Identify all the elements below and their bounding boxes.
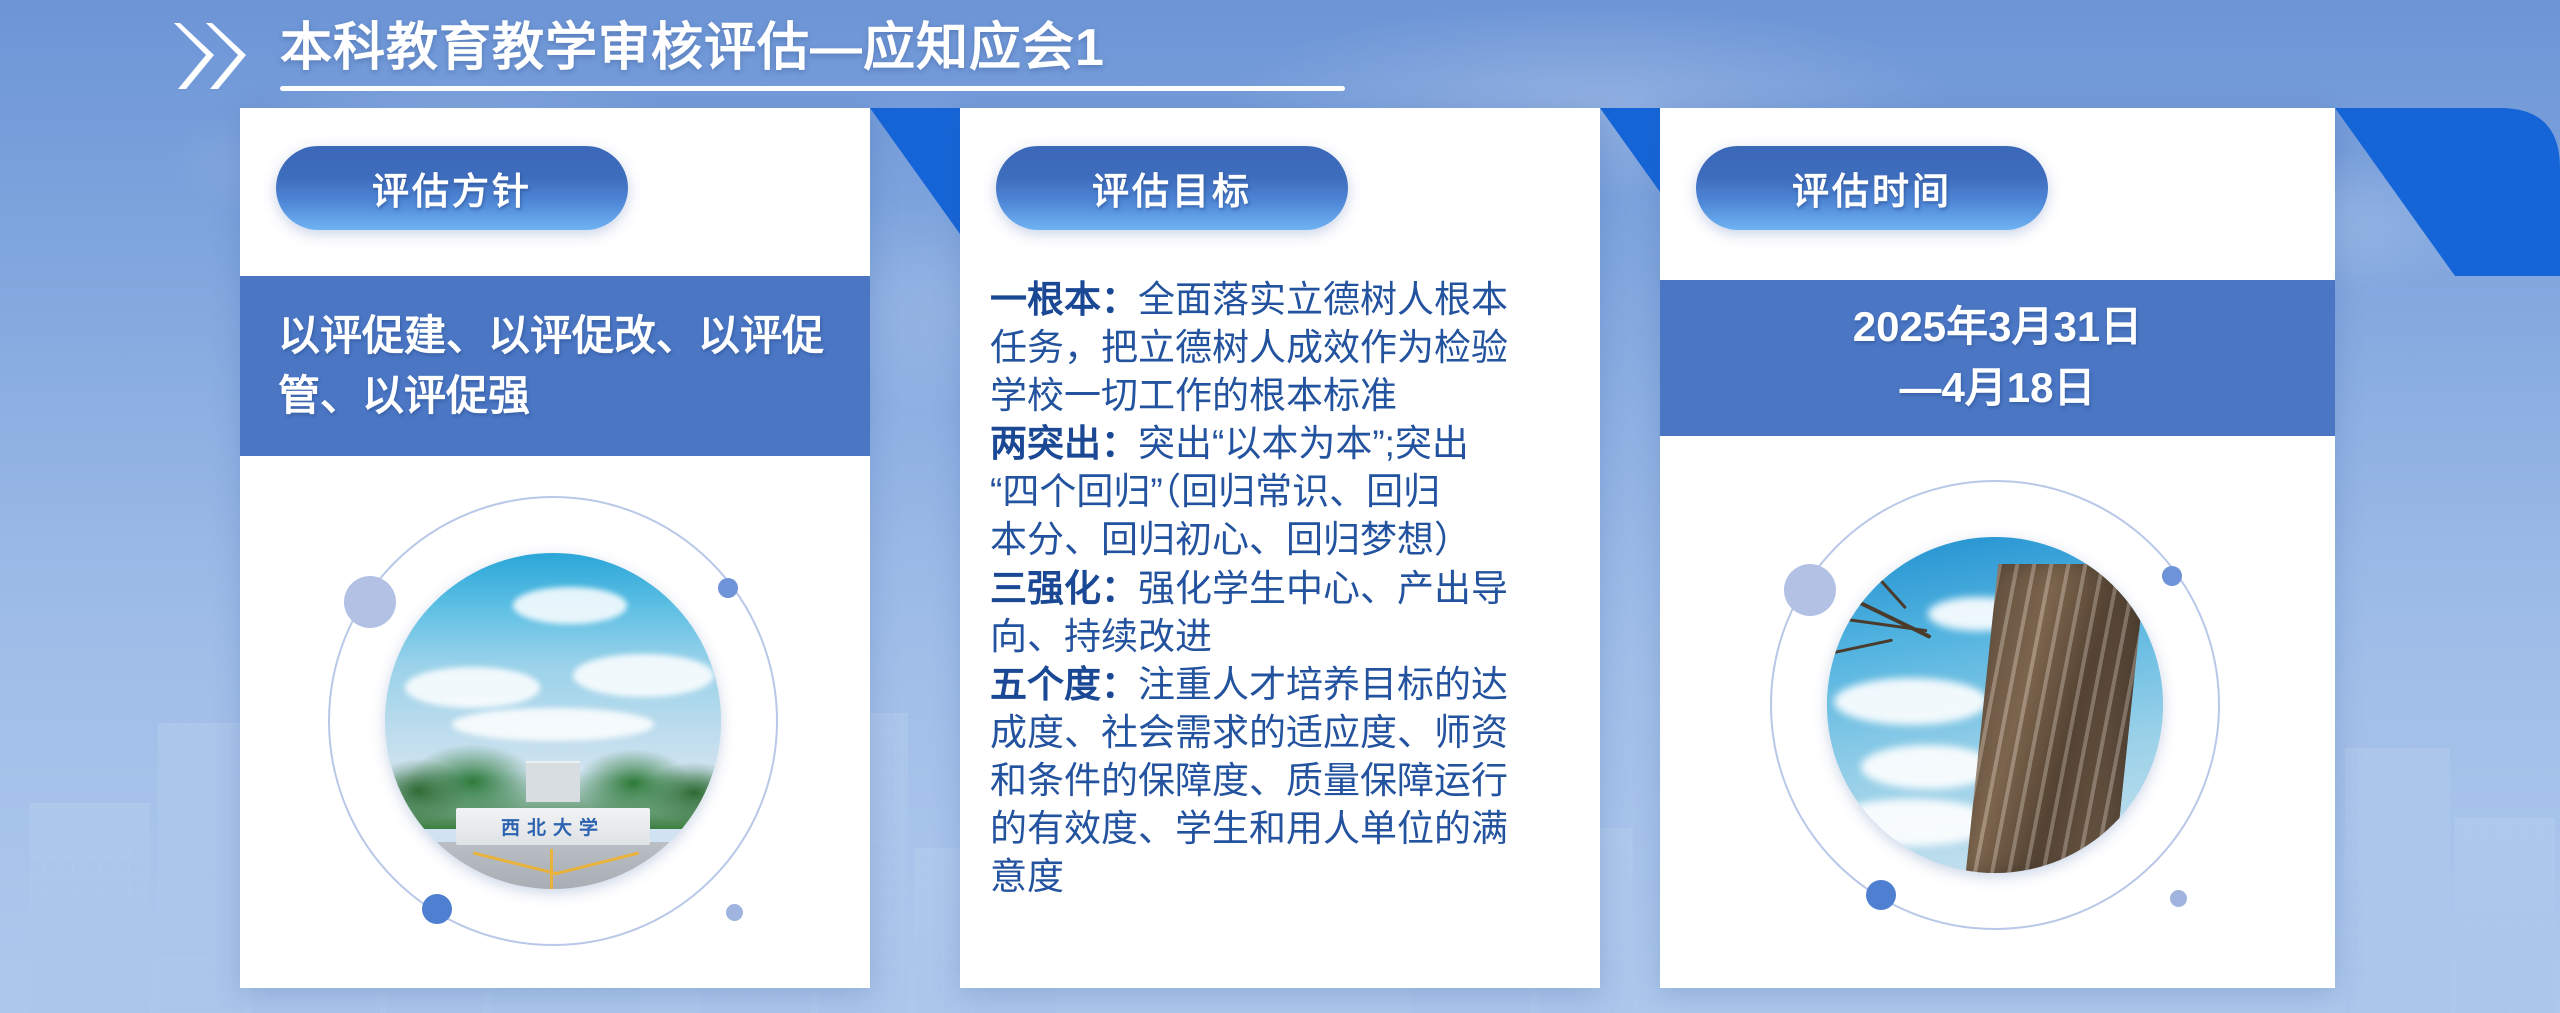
card-2-line-4: “四个回归”（回归常识、回归 xyxy=(990,468,1575,516)
card-2-line-5-text: 本分、回归初心、回归梦想） xyxy=(990,519,1471,560)
card-2-line-9-text: 成度、社会需求的适应度、师资 xyxy=(990,712,1508,753)
card-2-line-0-label: 一根本： xyxy=(990,279,1138,320)
card-3-date-text: 2025年3月31日 —4月18日 xyxy=(1853,297,2143,419)
campus-building-photo xyxy=(1827,537,2163,873)
cards-row: 评估方针 以评促建、以评促改、以评促管、以评促强 xyxy=(0,108,2560,1013)
card-2-line-7: 向、持续改进 xyxy=(990,613,1575,661)
card-3-badge-label: 评估时间 xyxy=(1792,161,1952,215)
card-2-line-6: 三强化：强化学生中心、产出导 xyxy=(990,565,1575,613)
page-title: 本科教育教学审核评估—应知应会1 xyxy=(280,21,1105,76)
card-2-line-8: 五个度：注重人才培养目标的达 xyxy=(990,661,1575,709)
page-header: 本科教育教学审核评估—应知应会1 xyxy=(170,8,1370,104)
card-2-line-3-label: 两突出： xyxy=(990,423,1138,464)
card-evaluation-policy[interactable]: 评估方针 以评促建、以评促改、以评促管、以评促强 xyxy=(240,108,870,988)
card-2-badge-label: 评估目标 xyxy=(1092,161,1252,215)
card-2-line-6-text: 强化学生中心、产出导 xyxy=(1138,568,1508,609)
card-2-line-12-text: 意度 xyxy=(990,856,1064,897)
card-3-date-line-2: —4月18日 xyxy=(1899,364,2095,411)
card-2-body-text: 一根本：全面落实立德树人根本任务，把立德树人成效作为检验学校一切工作的根本标准两… xyxy=(990,276,1575,901)
card-2-line-8-text: 注重人才培养目标的达 xyxy=(1138,664,1508,705)
card-1-statement-box: 以评促建、以评促改、以评促管、以评促强 xyxy=(240,276,870,456)
card-2-line-2: 学校一切工作的根本标准 xyxy=(990,372,1575,420)
orbit-dot-tiny xyxy=(2170,890,2187,907)
card-2-line-9: 成度、社会需求的适应度、师资 xyxy=(990,709,1575,757)
card-3-photo-decoration xyxy=(1770,480,2220,930)
card-3-date-line-1: 2025年3月31日 xyxy=(1853,303,2143,350)
card-2-line-3-text: 突出“以本为本”;突出 xyxy=(1138,423,1469,464)
card-2-line-10-text: 和条件的保障度、质量保障运行 xyxy=(990,760,1508,801)
card-2-line-6-label: 三强化： xyxy=(990,568,1138,609)
double-chevron-right-icon xyxy=(170,21,254,91)
card-2-badge: 评估目标 xyxy=(996,146,1348,230)
card-2-line-10: 和条件的保障度、质量保障运行 xyxy=(990,757,1575,805)
orbit-dot-medium xyxy=(1866,880,1896,910)
card-evaluation-goals[interactable]: 评估目标 一根本：全面落实立德树人根本任务，把立德树人成效作为检验学校一切工作的… xyxy=(960,108,1600,988)
card-2-line-3: 两突出：突出“以本为本”;突出 xyxy=(990,420,1575,468)
card-2-line-1: 任务，把立德树人成效作为检验 xyxy=(990,324,1575,372)
title-underline xyxy=(280,86,1345,91)
orbit-dot-small xyxy=(2162,566,2182,586)
orbit-dot-tiny xyxy=(726,904,743,921)
campus-gate-photo: 西北大学 xyxy=(385,553,721,889)
card-2-line-12: 意度 xyxy=(990,853,1575,901)
card-2-line-11-text: 的有效度、学生和用人单位的满 xyxy=(990,808,1508,849)
card-3-badge: 评估时间 xyxy=(1696,146,2048,230)
orbit-dot-medium xyxy=(422,894,452,924)
card-2-line-0-text: 全面落实立德树人根本 xyxy=(1138,279,1508,320)
card-1-badge-label: 评估方针 xyxy=(372,161,532,215)
card-1-photo-decoration: 西北大学 xyxy=(328,496,778,946)
card-2-line-0: 一根本：全面落实立德树人根本 xyxy=(990,276,1575,324)
orbit-dot-small xyxy=(718,578,738,598)
card-2-line-7-text: 向、持续改进 xyxy=(990,616,1212,657)
ribbon-flag-3 xyxy=(2335,108,2560,276)
gate-sign-text: 西北大学 xyxy=(456,808,651,845)
card-1-statement-text: 以评促建、以评促改、以评促管、以评促强 xyxy=(278,306,832,425)
card-2-line-11: 的有效度、学生和用人单位的满 xyxy=(990,805,1575,853)
card-2-line-8-label: 五个度： xyxy=(990,664,1138,705)
card-2-line-1-text: 任务，把立德树人成效作为检验 xyxy=(990,327,1508,368)
card-1-badge: 评估方针 xyxy=(276,146,628,230)
card-2-line-5: 本分、回归初心、回归梦想） xyxy=(990,516,1575,564)
card-evaluation-time[interactable]: 评估时间 2025年3月31日 —4月18日 xyxy=(1660,108,2335,988)
card-3-date-box: 2025年3月31日 —4月18日 xyxy=(1660,280,2335,436)
card-2-line-4-text: “四个回归”（回归常识、回归 xyxy=(990,471,1440,512)
card-2-line-2-text: 学校一切工作的根本标准 xyxy=(990,375,1397,416)
